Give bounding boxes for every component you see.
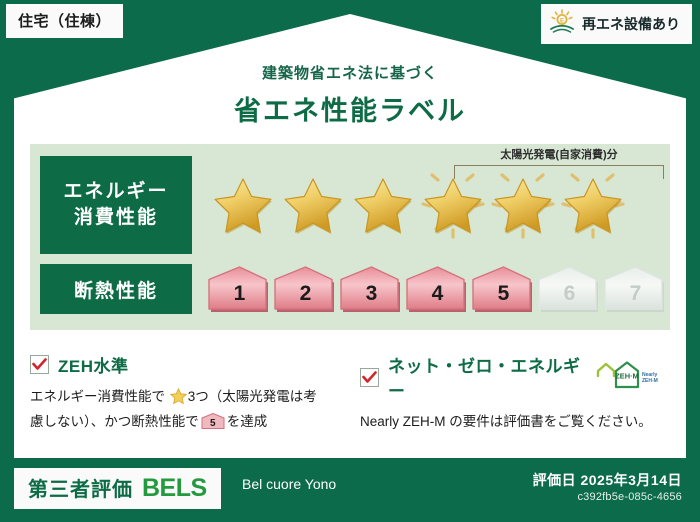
sun-icon: E <box>549 9 575 38</box>
energy-row-label: エネルギー 消費性能 <box>40 156 192 254</box>
nze-note-body: Nearly ZEH-M の要件は評価書をご覧ください。 <box>360 411 660 433</box>
zeh-m-logo-icon: ZEH·M Nearly ZEH-M <box>594 360 660 395</box>
net-zero-energy-note: ネット・ゼロ・エネルギー ZEH·M Nearly ZEH-M Nearly Z… <box>360 352 660 433</box>
svg-text:ZEH·M: ZEH·M <box>615 371 638 380</box>
insulation-grade-6: 6 <box>538 265 601 313</box>
insulation-grade-value: 3 <box>366 282 378 313</box>
insulation-grade-group: 1234567 <box>208 265 667 313</box>
insulation-grade-value: 5 <box>498 282 510 313</box>
checkbox-checked-icon <box>30 355 49 374</box>
solar-bracket-annotation: 太陽光発電(自家消費)分 <box>454 146 664 179</box>
rating-panel: 太陽光発電(自家消費)分 エネルギー 消費性能 断熱性能 1234567 <box>30 144 670 330</box>
star-5 <box>488 168 558 242</box>
zeh-note-body: エネルギー消費性能で 3つ（太陽光発電は考慮しない）、かつ断熱性能で 5を達成 <box>30 386 330 433</box>
insulation-label-text: 断熱性能 <box>74 276 158 303</box>
zeh-note-heading: ZEH水準 <box>30 352 330 377</box>
solar-bracket-line <box>454 165 664 179</box>
insulation-grade-value: 4 <box>432 282 444 313</box>
footer-bar: 第三者評価 BELS Bel cuore Yono 評価日 2025年3月14日… <box>0 458 700 522</box>
insulation-performance-row: 断熱性能 1234567 <box>40 264 667 314</box>
energy-label-line2: 消費性能 <box>74 205 158 231</box>
evaluation-date: 評価日 2025年3月14日 <box>533 470 682 490</box>
insulation-grade-7: 7 <box>604 265 667 313</box>
renewable-equipment-badge: E 再エネ設備あり <box>541 4 692 44</box>
insulation-grade-1: 1 <box>208 265 271 313</box>
evaluation-id: c392fb5e-085c-4656 <box>577 491 682 503</box>
star-1 <box>208 168 278 242</box>
building-type-text: 住宅（住棟） <box>18 13 111 30</box>
inline-star-icon <box>166 392 187 407</box>
property-name: Bel cuore Yono <box>242 476 336 492</box>
label-main-title: 省エネ性能ラベル <box>0 89 700 128</box>
insulation-grade-2: 2 <box>274 265 337 313</box>
inline-grade-value: 5 <box>201 416 225 432</box>
star-6 <box>558 168 628 242</box>
insulation-grade-3: 3 <box>340 265 403 313</box>
building-type-tag: 住宅（住棟） <box>6 4 123 38</box>
zeh-note-text-1: エネルギー消費性能で <box>30 389 165 404</box>
svg-text:ZEH-M: ZEH-M <box>642 378 658 384</box>
insulation-grade-value: 6 <box>564 282 576 313</box>
bels-plate: 第三者評価 BELS <box>14 468 221 509</box>
energy-performance-label: 住宅（住棟） E 再エネ設備あり 建築物省エネ法に基づく 省エネ性能ラベ <box>0 0 700 522</box>
insulation-grade-value: 7 <box>630 282 642 313</box>
zeh-note-text-3: を達成 <box>227 414 268 429</box>
inline-grade-badge: 5 <box>201 413 225 429</box>
insulation-grade-value: 2 <box>300 282 312 313</box>
solar-caption: 太陽光発電(自家消費)分 <box>454 146 664 162</box>
energy-label-line1: エネルギー <box>63 179 168 205</box>
star-4 <box>418 168 488 242</box>
nze-note-heading: ネット・ゼロ・エネルギー ZEH·M Nearly ZEH-M <box>360 352 660 402</box>
bels-japanese-label: 第三者評価 <box>28 473 133 502</box>
checkbox-checked-icon <box>360 368 379 387</box>
label-subtitle: 建築物省エネ法に基づく <box>0 62 700 83</box>
insulation-grade-value: 1 <box>234 282 246 313</box>
star-3 <box>348 168 418 242</box>
star-2 <box>278 168 348 242</box>
insulation-grade-5: 5 <box>472 265 535 313</box>
svg-text:E: E <box>560 18 564 24</box>
title-block: 建築物省エネ法に基づく 省エネ性能ラベル <box>0 62 700 128</box>
insulation-row-label: 断熱性能 <box>40 264 192 314</box>
insulation-grade-4: 4 <box>406 265 469 313</box>
renewable-badge-label: 再エネ設備あり <box>582 14 680 34</box>
bels-logo-text: BELS <box>142 474 207 503</box>
star-rating-group <box>208 168 628 242</box>
nze-note-title: ネット・ゼロ・エネルギー <box>388 352 581 402</box>
zeh-note-title: ZEH水準 <box>58 352 129 377</box>
zeh-standard-note: ZEH水準 エネルギー消費性能で 3つ（太陽光発電は考慮しない）、かつ断熱性能で… <box>30 352 330 433</box>
